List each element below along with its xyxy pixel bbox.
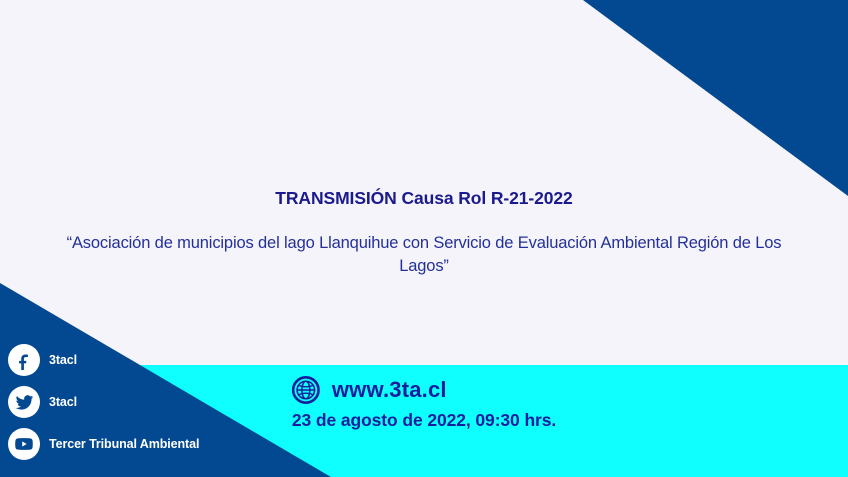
page-title: TRANSMISIÓN Causa Rol R-21-2022 <box>0 188 848 210</box>
social-label-twitter: 3tacl <box>49 395 77 409</box>
globe-icon <box>292 376 320 404</box>
social-item-facebook[interactable]: 3tacl <box>8 344 199 376</box>
website-row[interactable]: www.3ta.cl <box>292 376 556 404</box>
youtube-icon <box>8 428 40 460</box>
twitter-icon <box>8 386 40 418</box>
social-label-youtube: Tercer Tribunal Ambiental <box>49 437 199 451</box>
case-subtitle: “Asociación de municipios del lago Llanq… <box>0 232 848 279</box>
social-links-list: 3tacl 3tacl Tercer Tribunal Ambiental <box>8 344 199 460</box>
social-item-twitter[interactable]: 3tacl <box>8 386 199 418</box>
broadcast-announcement-slide: TRANSMISIÓN Causa Rol R-21-2022 “Asociac… <box>0 0 848 477</box>
social-item-youtube[interactable]: Tercer Tribunal Ambiental <box>8 428 199 460</box>
website-url[interactable]: www.3ta.cl <box>332 377 447 403</box>
footer-info-block: www.3ta.cl 23 de agosto de 2022, 09:30 h… <box>292 376 556 431</box>
broadcast-datetime: 23 de agosto de 2022, 09:30 hrs. <box>292 410 556 431</box>
social-label-facebook: 3tacl <box>49 353 77 367</box>
facebook-icon <box>8 344 40 376</box>
announcement-text-block: TRANSMISIÓN Causa Rol R-21-2022 “Asociac… <box>0 188 848 279</box>
